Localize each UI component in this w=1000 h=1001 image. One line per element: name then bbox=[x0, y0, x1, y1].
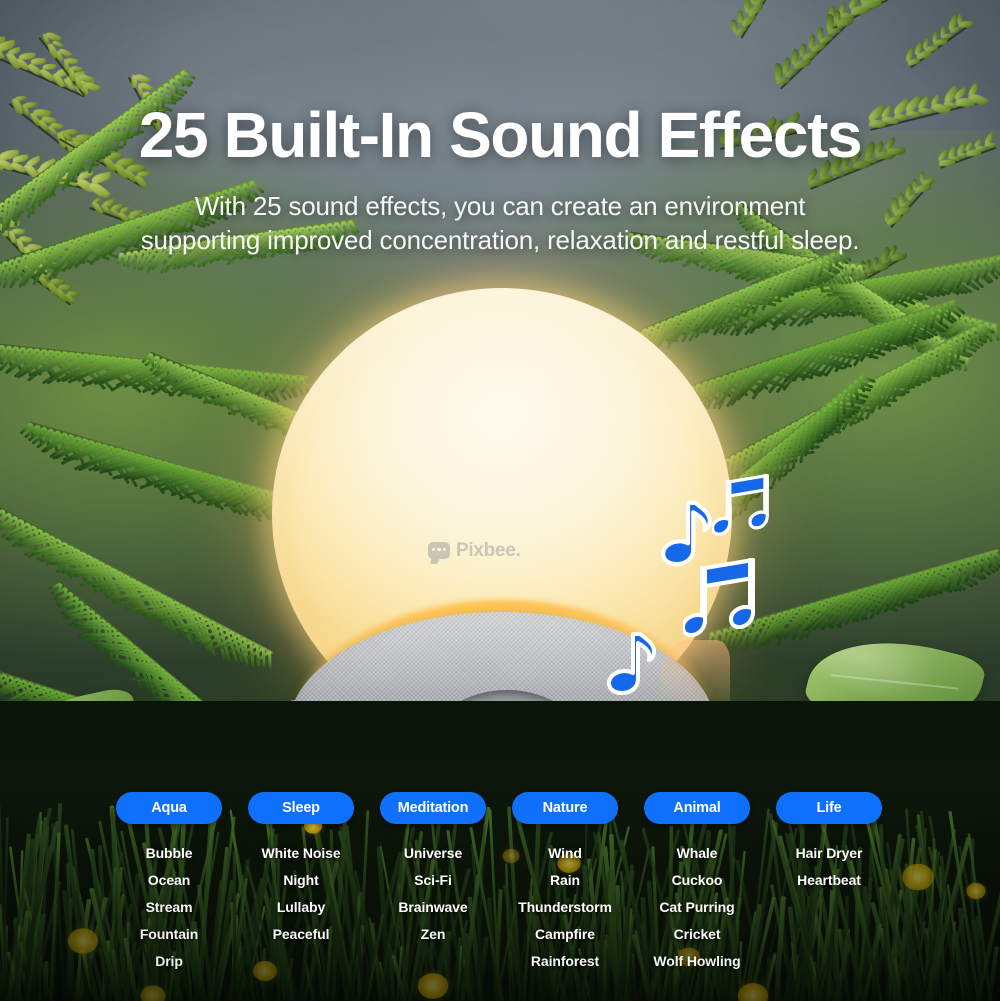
sound-category-column: NatureWindRainThunderstormCampfireRainfo… bbox=[512, 792, 618, 975]
sound-item-list: WhaleCuckooCat PurringCricketWolf Howlin… bbox=[644, 840, 750, 975]
page-subtitle: With 25 sound effects, you can create an… bbox=[0, 190, 1000, 258]
sound-item: Heartbeat bbox=[776, 867, 882, 894]
dandelion-flower bbox=[966, 883, 985, 899]
sound-item: Hair Dryer bbox=[776, 840, 882, 867]
sound-item-list: BubbleOceanStreamFountainDrip bbox=[116, 840, 222, 975]
sound-item: Drip bbox=[116, 948, 222, 975]
product-logo: Pixbee. bbox=[428, 541, 520, 560]
dandelion-flower bbox=[902, 864, 933, 891]
sound-item: Lullaby bbox=[248, 894, 354, 921]
sound-item: Stream bbox=[116, 894, 222, 921]
sound-item: Cuckoo bbox=[644, 867, 750, 894]
sound-item: Wind bbox=[512, 840, 618, 867]
sound-item: Night bbox=[248, 867, 354, 894]
sound-item: Universe bbox=[380, 840, 486, 867]
category-pill-nature[interactable]: Nature bbox=[512, 792, 618, 824]
dandelion-flower bbox=[738, 983, 768, 1001]
subtitle-line-1: With 25 sound effects, you can create an… bbox=[0, 190, 1000, 224]
music-note-eighth-1 bbox=[604, 630, 660, 696]
sound-item-list: White NoiseNightLullabyPeaceful bbox=[248, 840, 354, 948]
sound-item: Peaceful bbox=[248, 921, 354, 948]
sound-category-column: MeditationUniverseSci-FiBrainwaveZen bbox=[380, 792, 486, 975]
sound-item-list: WindRainThunderstormCampfireRainforest bbox=[512, 840, 618, 975]
brand-name: Pixbee. bbox=[456, 541, 520, 560]
category-pill-meditation[interactable]: Meditation bbox=[380, 792, 486, 824]
sound-item: Wolf Howling bbox=[644, 948, 750, 975]
dandelion-flower bbox=[68, 928, 98, 954]
sound-category-column: LifeHair DryerHeartbeat bbox=[776, 792, 882, 975]
grass-blade bbox=[43, 961, 49, 1001]
product-feature-banner: Pixbee. 25 Built-In Sound Effects bbox=[0, 0, 1000, 1001]
sound-item: Fountain bbox=[116, 921, 222, 948]
sound-item: Cricket bbox=[644, 921, 750, 948]
sound-item: Whale bbox=[644, 840, 750, 867]
category-pill-aqua[interactable]: Aqua bbox=[116, 792, 222, 824]
sound-category-column: AnimalWhaleCuckooCat PurringCricketWolf … bbox=[644, 792, 750, 975]
sound-category-list: AquaBubbleOceanStreamFountainDripSleepWh… bbox=[116, 792, 884, 975]
sound-item: Rain bbox=[512, 867, 618, 894]
sound-item-list: UniverseSci-FiBrainwaveZen bbox=[380, 840, 486, 948]
sound-item: Zen bbox=[380, 921, 486, 948]
sound-item: Brainwave bbox=[380, 894, 486, 921]
sound-item: Ocean bbox=[116, 867, 222, 894]
category-pill-life[interactable]: Life bbox=[776, 792, 882, 824]
dandelion-flower bbox=[140, 985, 165, 1001]
sound-item: Campfire bbox=[512, 921, 618, 948]
sound-item-list: Hair DryerHeartbeat bbox=[776, 840, 882, 894]
sound-category-column: SleepWhite NoiseNightLullabyPeaceful bbox=[248, 792, 354, 975]
sound-item: Sci-Fi bbox=[380, 867, 486, 894]
sound-item: Rainforest bbox=[512, 948, 618, 975]
sound-category-column: AquaBubbleOceanStreamFountainDrip bbox=[116, 792, 222, 975]
sound-item: White Noise bbox=[248, 840, 354, 867]
subtitle-line-2: supporting improved concentration, relax… bbox=[0, 224, 1000, 258]
sound-item: Bubble bbox=[116, 840, 222, 867]
sound-item: Cat Purring bbox=[644, 894, 750, 921]
dandelion-flower bbox=[418, 973, 448, 999]
page-title: 25 Built-In Sound Effects bbox=[0, 103, 1000, 167]
music-note-beamed-pair-2 bbox=[712, 474, 774, 538]
category-pill-animal[interactable]: Animal bbox=[644, 792, 750, 824]
speech-bubble-icon bbox=[428, 542, 450, 559]
sound-item: Thunderstorm bbox=[512, 894, 618, 921]
category-pill-sleep[interactable]: Sleep bbox=[248, 792, 354, 824]
music-note-beamed-pair-1 bbox=[683, 558, 761, 640]
